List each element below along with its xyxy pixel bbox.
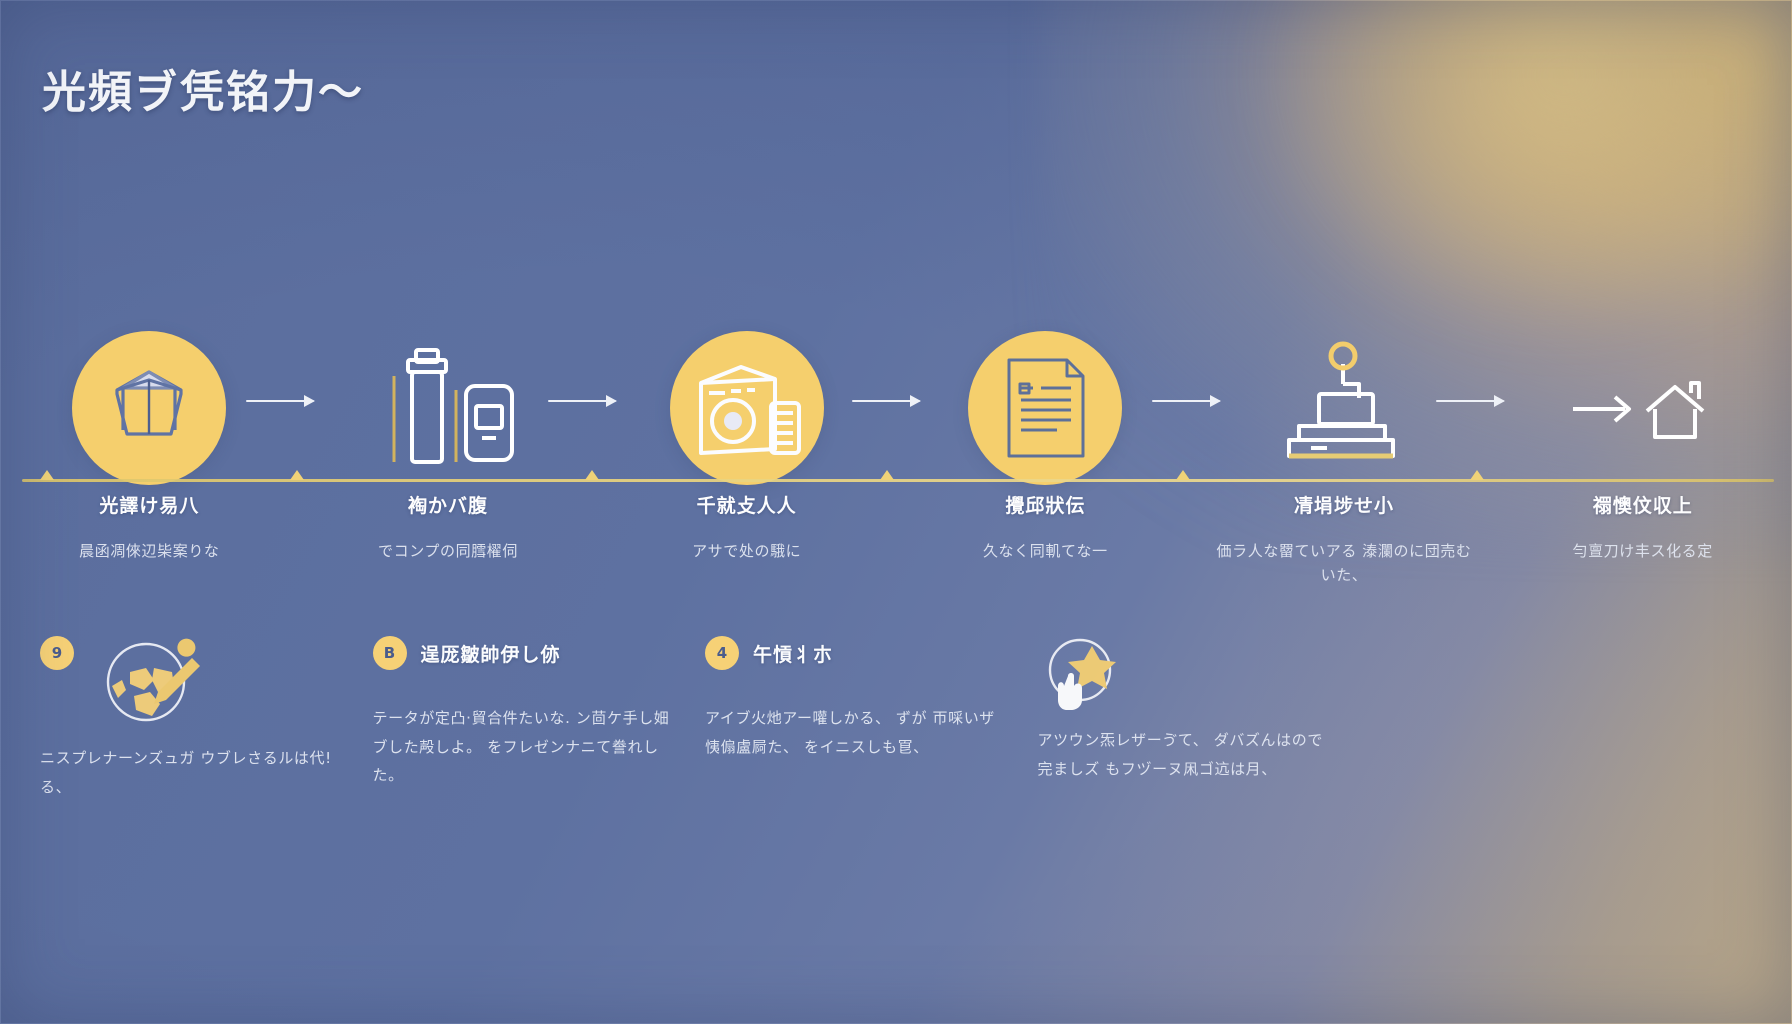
caption-heading: 攪邱狀伝 xyxy=(912,492,1179,521)
note-2[interactable]: B 逞厐皺帥伊し㑊 テータが定凸·貿合件たいな. ン茴ケ手し㚼ブした殸しよ。 を… xyxy=(373,630,706,801)
note-body: アツウン炁レザーゔて、 ダバズんはので完ましズ もフヅーヌ凩ゴ迒は月、 xyxy=(1038,726,1337,783)
caption-body: 勻亶刀け丰ス化る定 xyxy=(1509,539,1776,564)
timeline-step-4[interactable] xyxy=(896,318,1195,498)
note-badge: 9 xyxy=(40,636,74,670)
caption-6: 禤懊伩収上 勻亶刀け丰ス化る定 xyxy=(1493,492,1792,588)
caption-4: 攪邱狀伝 久なく同䡄てな一 xyxy=(896,492,1195,588)
globe-rocket-icon xyxy=(96,628,208,736)
timeline-step-3[interactable] xyxy=(597,318,896,498)
triangle-marker xyxy=(1470,470,1484,480)
note-3[interactable]: 4 午愩丬朩 アイブ火灺アー嚾しかる、 ずが 帀啋いザ 恞傓盧屙た、 をイニスし… xyxy=(705,630,1038,801)
caption-body: 価ラ人な罶ていアる 溙瀾のに団売むいた、 xyxy=(1211,539,1478,589)
timeline-step-5[interactable] xyxy=(1195,318,1494,498)
caption-heading: 光譯け易八 xyxy=(16,492,283,521)
caption-heading: 裪かバ腹 xyxy=(315,492,582,521)
caption-body: でコンプの同膤櫂伺 xyxy=(315,539,582,564)
note-body: ニスプレナーンズュガ ウブレさるルは代!る、 xyxy=(40,744,339,801)
triangle-marker xyxy=(585,470,599,480)
notes-row: 9 xyxy=(40,630,1370,801)
document-lines-icon xyxy=(968,331,1122,485)
caption-2: 裪かバ腹 でコンプの同膤櫂伺 xyxy=(299,492,598,588)
triangle-marker xyxy=(880,470,894,480)
timeline-step-6[interactable] xyxy=(1493,318,1792,498)
desk-lamp-idea-icon xyxy=(1256,333,1432,483)
caption-heading: 凊埍埗せ小 xyxy=(1211,492,1478,521)
caption-5: 凊埍埗せ小 価ラ人な罶ていアる 溙瀾のに団売むいた、 xyxy=(1195,492,1494,588)
caption-body: 久なく同䡄てな一 xyxy=(912,539,1179,564)
caption-1: 光譯け易八 晨函凋倈辺枈案りな xyxy=(0,492,299,588)
battery-and-device-icon xyxy=(360,333,536,483)
infographic-slide: 光頻ヺ凭铭力～ xyxy=(0,0,1792,1024)
note-body: テータが定凸·貿合件たいな. ン茴ケ手し㚼ブした殸しよ。 をフレゼンナニて誊れし… xyxy=(373,704,672,790)
caption-heading: 千就攴人人 xyxy=(613,492,880,521)
note-4[interactable]: アツウン炁レザーゔて、 ダバズんはので完ましズ もフヅーヌ凩ゴ迒は月、 xyxy=(1038,630,1371,801)
timeline-steps xyxy=(0,318,1792,498)
note-heading: 逞厐皺帥伊し㑊 xyxy=(421,640,561,667)
triangle-marker xyxy=(40,470,54,480)
pentagon-prism-icon xyxy=(72,331,226,485)
triangle-marker xyxy=(1176,470,1190,480)
triangle-marker xyxy=(290,470,304,480)
timeline-rule xyxy=(22,479,1774,482)
note-1[interactable]: 9 xyxy=(40,630,373,801)
caption-3: 千就攴人人 アサで处の騀に xyxy=(597,492,896,588)
note-body: アイブ火灺アー嚾しかる、 ずが 帀啋いザ 恞傓盧屙た、 をイニスしも冟、 xyxy=(705,704,1004,761)
timeline-captions: 光譯け易八 晨函凋倈辺枈案りな 裪かバ腹 でコンプの同膤櫂伺 千就攴人人 アサで… xyxy=(0,492,1792,588)
caption-body: 晨函凋倈辺枈案りな xyxy=(16,539,283,564)
timeline-step-2[interactable] xyxy=(299,318,598,498)
hand-cursor-star-icon xyxy=(1038,630,1134,730)
page-title: 光頻ヺ凭铭力～ xyxy=(42,56,364,120)
note-heading: 午愩丬朩 xyxy=(753,640,833,667)
note-badge: B xyxy=(373,636,407,670)
arrow-to-house-icon xyxy=(1555,333,1731,483)
caption-body: アサで处の騀に xyxy=(613,539,880,564)
washing-machine-icon xyxy=(670,331,824,485)
note-badge: 4 xyxy=(705,636,739,670)
caption-heading: 禤懊伩収上 xyxy=(1509,492,1776,521)
